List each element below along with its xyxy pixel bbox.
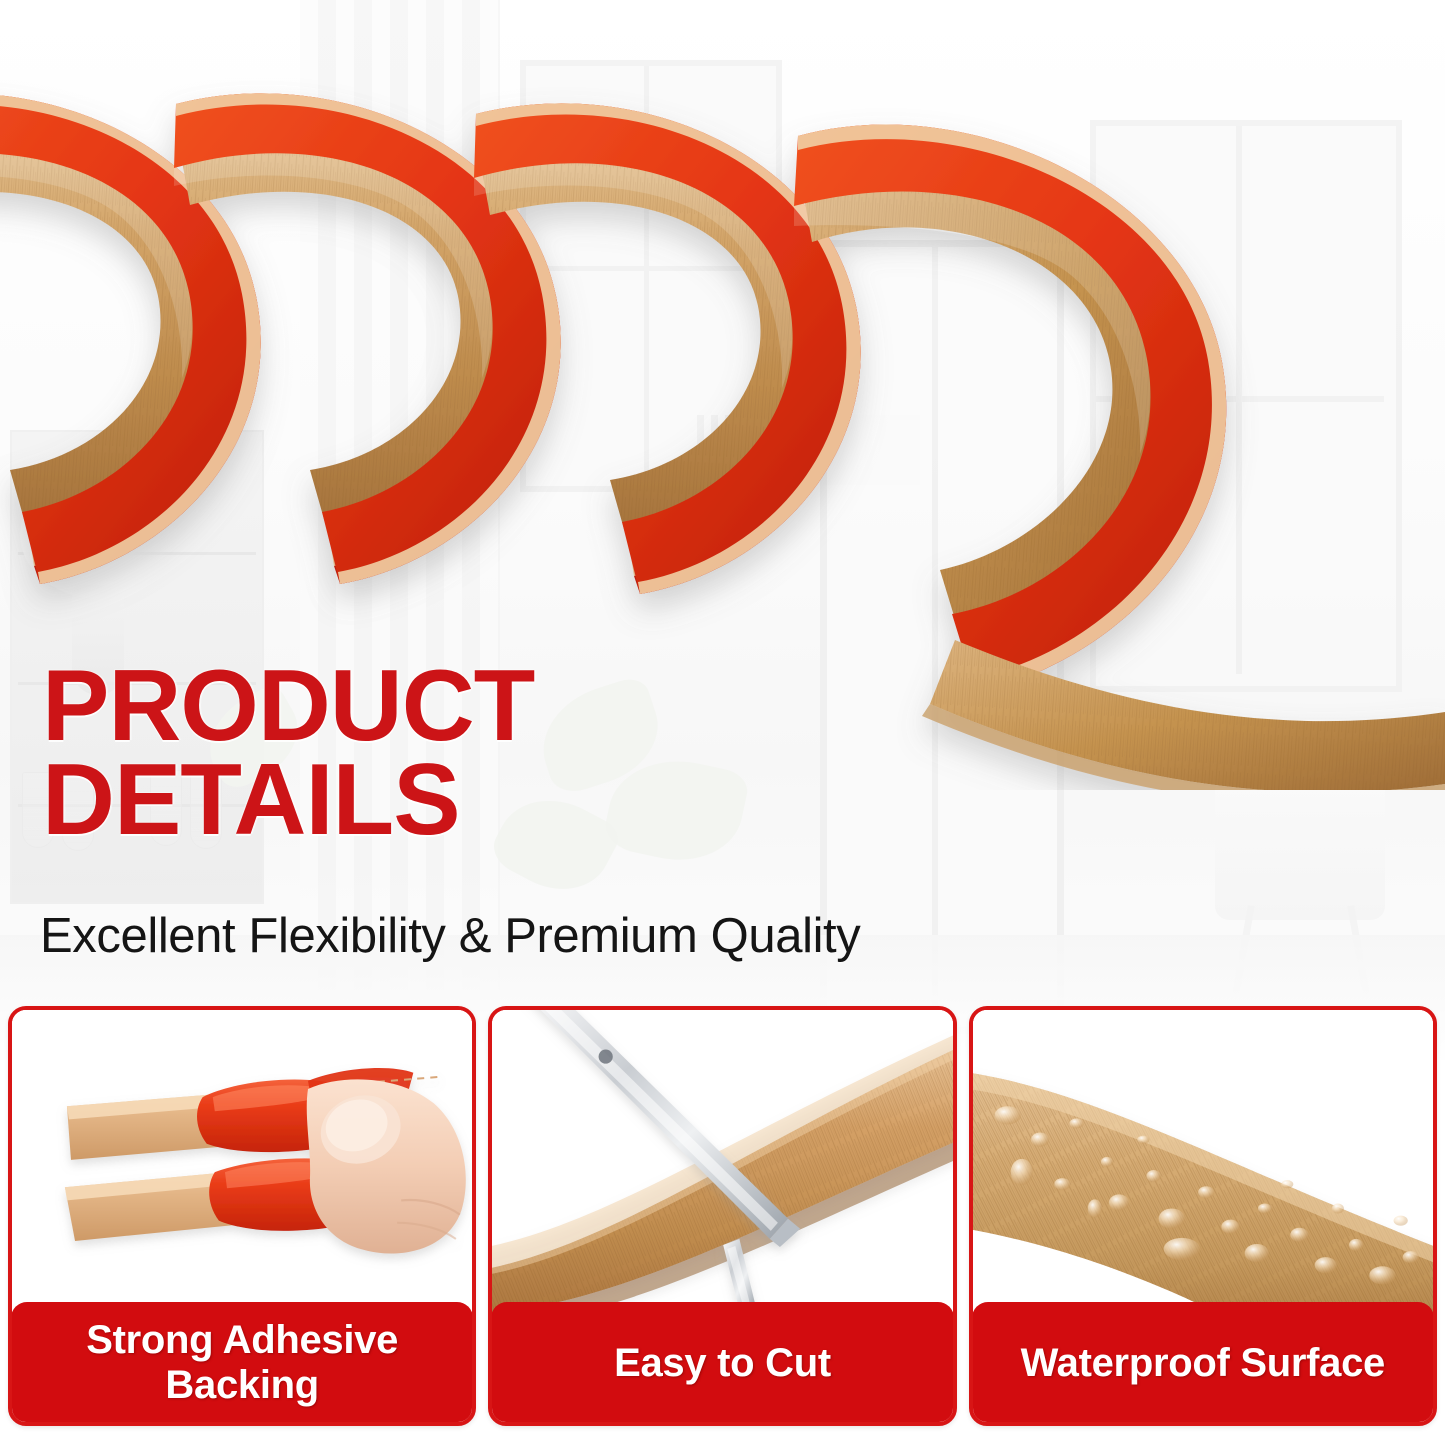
- cut-photo: [492, 1010, 952, 1324]
- feature-panel-waterproof[interactable]: Waterproof Surface: [969, 1006, 1437, 1426]
- page-subtitle: Excellent Flexibility & Premium Quality: [40, 908, 860, 964]
- feature-panel-cut[interactable]: Easy to Cut: [488, 1006, 956, 1426]
- page-title: PRODUCT DETAILS: [42, 660, 742, 848]
- adhesive-photo: [12, 1010, 472, 1324]
- feature-panels: Strong Adhesive Backing: [0, 1006, 1445, 1426]
- waterproof-photo: [973, 1010, 1433, 1324]
- feature-caption-adhesive: Strong Adhesive Backing: [11, 1302, 473, 1424]
- feature-panel-adhesive[interactable]: Strong Adhesive Backing: [8, 1006, 476, 1426]
- product-details-image: PRODUCT DETAILS Excellent Flexibility & …: [0, 0, 1445, 1445]
- feature-caption-waterproof: Waterproof Surface: [972, 1302, 1434, 1424]
- feature-caption-cut: Easy to Cut: [491, 1302, 953, 1424]
